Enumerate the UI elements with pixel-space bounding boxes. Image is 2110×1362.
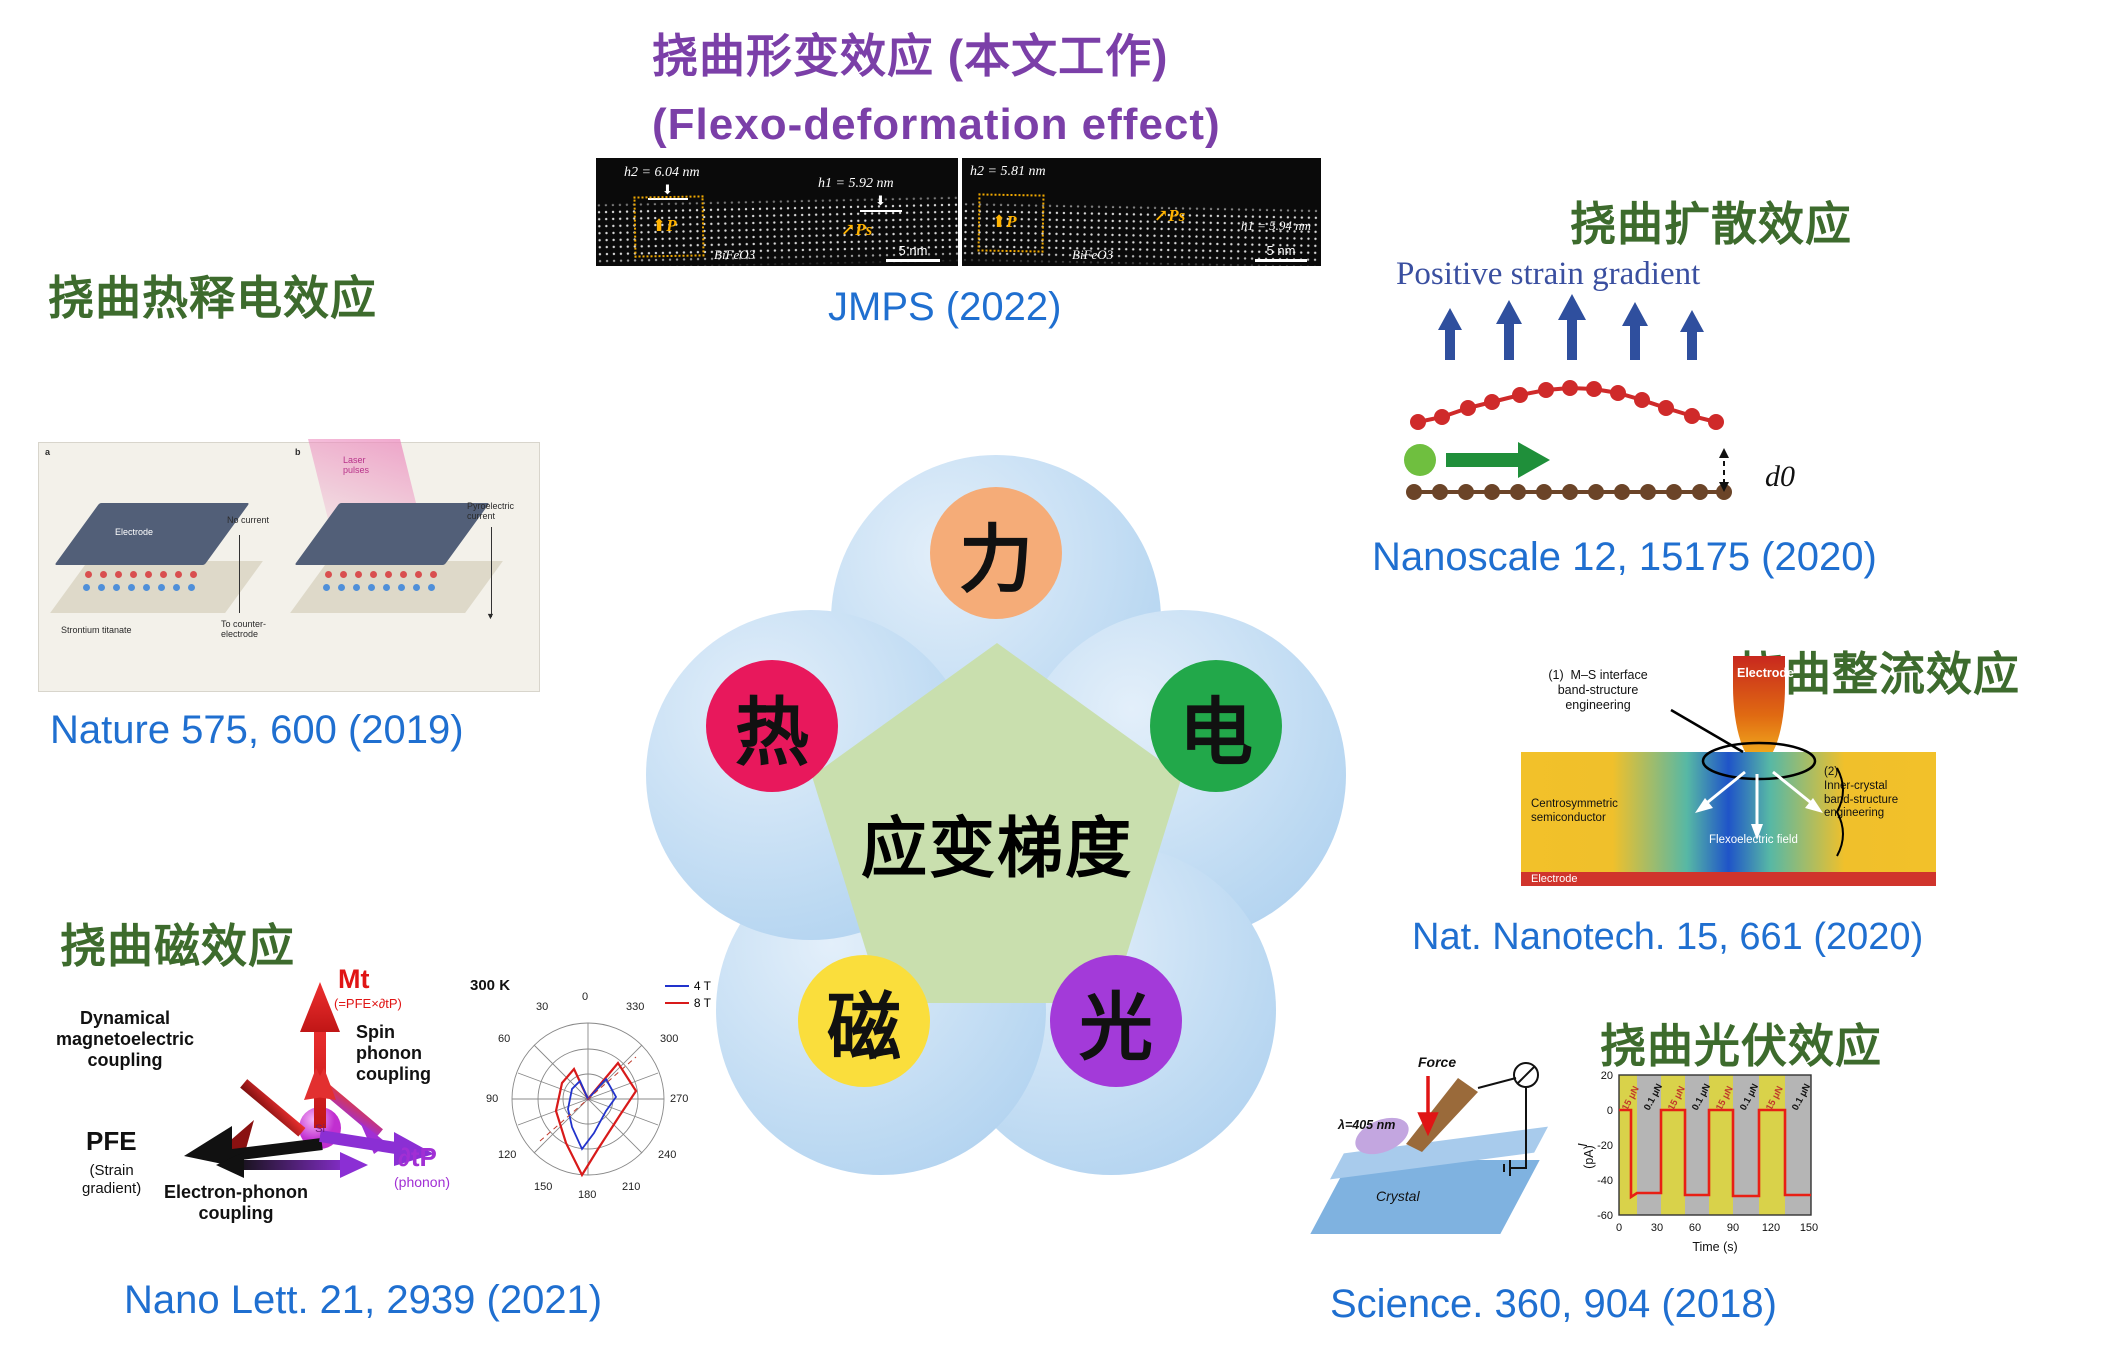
pyro-letter-b: b	[295, 447, 301, 457]
pyro-electrode-b	[294, 503, 489, 565]
pyro-panel-a: a Electrode No current To counter- elect…	[39, 443, 289, 691]
svg-text:-40: -40	[1597, 1175, 1613, 1187]
svg-text:0: 0	[1616, 1222, 1622, 1234]
ref-nanoscale: Nanoscale 12, 15175 (2020)	[1372, 535, 1877, 580]
spin-phonon-label: Spin phonon coupling	[356, 1022, 431, 1086]
upper-atom-chain	[1410, 380, 1724, 430]
haadf-arrow-down-left: ⬇	[662, 183, 673, 196]
haadf-h2-label: h2 = 6.04 nm	[624, 165, 700, 181]
haadf-h1-label-right: h1 = 5.94 nm	[1241, 218, 1311, 234]
pyro-wire-b	[491, 527, 492, 617]
node-electric-label: 电	[1179, 673, 1253, 780]
haadf-scalebar-right: 5 nm	[1255, 243, 1307, 262]
haadf-h1-label: h1 = 5.92 nm	[818, 176, 894, 192]
central-flower-diagram: 应变梯度 力 电 光 磁 热	[616, 455, 1376, 1215]
pv-chart-svg: 20 0 -20 -40 -60 0 30 60 90 120 150 Time…	[1575, 1065, 1830, 1265]
pyroelectric-figure: a Electrode No current To counter- elect…	[38, 442, 540, 692]
ref-jmps: JMPS (2022)	[828, 285, 1061, 330]
electron-phonon-label: Electron-phonon coupling	[164, 1182, 308, 1224]
polar-curve-4t	[568, 1079, 616, 1149]
svg-text:-20: -20	[1597, 1140, 1613, 1152]
electron-phonon-arrow	[216, 1152, 368, 1178]
callout-1-leader	[1671, 710, 1743, 752]
node-optical-label: 光	[1079, 968, 1153, 1075]
laser-pulses-label: Laser pulses	[343, 455, 369, 476]
dtp-sub-label: (phonon)	[394, 1174, 450, 1191]
polar-tick-90: 90	[486, 1093, 498, 1105]
svg-text:120: 120	[1762, 1222, 1780, 1234]
pyro-panel-b: b Laser pulses Pyroelectric current ▼	[289, 443, 539, 691]
diffusion-figure: Positive strain gradient	[1380, 262, 1810, 452]
haadf-polarization-Ps: ↗Ps	[841, 220, 872, 240]
pyro-charge-row-b1	[325, 571, 437, 578]
pyro-wire-a	[239, 535, 240, 613]
dtp-label: ∂tP	[398, 1142, 437, 1173]
force-arrow	[1420, 1076, 1436, 1132]
haadf-material-label-left: BiFeO3	[714, 247, 755, 263]
flexo-pyroelectric-title: 挠曲热释电效应	[48, 262, 377, 328]
haadf-polarization-Ps-right: ↗Ps	[1154, 206, 1185, 226]
ref-natnano: Nat. Nanotech. 15, 661 (2020)	[1412, 916, 1923, 959]
pyro-no-current-label: No current	[227, 515, 269, 525]
field-arrows	[1695, 772, 1823, 840]
polar-tick-0: 0	[582, 991, 588, 1003]
diffusion-svg	[1380, 262, 1810, 452]
strain-arrows	[1438, 294, 1704, 360]
d0-label: d0	[1765, 460, 1795, 494]
haadf-pane-left: h2 = 6.04 nm h1 = 5.92 nm ⬇ ⬇ ⬆P ↗Ps BiF…	[596, 158, 958, 266]
haadf-polarization-P: ⬆P	[652, 216, 677, 236]
ref-nanolett: Nano Lett. 21, 2939 (2021)	[124, 1278, 602, 1323]
node-mechanical-label: 力	[959, 500, 1033, 607]
node-thermal[interactable]: 热	[706, 660, 838, 792]
pyro-charge-row-a2	[83, 584, 195, 591]
haadf-polarization-P-right: ⬆P	[992, 212, 1017, 232]
pentagon-label: 应变梯度	[861, 795, 1133, 891]
flexo-deformation-title-en: (Flexo-deformation effect)	[652, 100, 1221, 150]
rectification-overlay	[1521, 648, 1936, 898]
pyro-letter-a: a	[45, 447, 50, 457]
svg-text:150: 150	[1800, 1222, 1818, 1234]
pyroelectric-current-label: Pyroelectric current	[467, 501, 539, 522]
haadf-bar-right	[860, 210, 902, 212]
diffusion-lower-svg	[1380, 430, 1820, 540]
svg-text:20: 20	[1601, 1070, 1613, 1082]
polar-tick-60: 60	[498, 1033, 510, 1045]
pyro-charge-row-b2	[323, 584, 435, 591]
node-magnetic-label: 磁	[827, 968, 901, 1075]
rectification-figure: (1) M–S interface band-structure enginee…	[1521, 648, 1936, 898]
brace-2	[1837, 768, 1843, 856]
mt-label: Mt	[338, 964, 369, 996]
svg-text:90: 90	[1727, 1222, 1739, 1234]
pyro-substrate-label: Strontium titanate	[61, 625, 132, 635]
pv-chart-ylabel2: (pA)	[1582, 1145, 1596, 1169]
haadf-h2-label-right: h2 = 5.81 nm	[970, 164, 1046, 180]
polar-tick-150: 150	[534, 1181, 552, 1193]
haadf-image-group: h2 = 6.04 nm h1 = 5.92 nm ⬇ ⬇ ⬆P ↗Ps BiF…	[596, 158, 1321, 266]
svg-text:-60: -60	[1597, 1210, 1613, 1222]
node-optical[interactable]: 光	[1050, 955, 1182, 1087]
pyro-charge-row-a1	[85, 571, 197, 578]
pv-chart-xlabel: Time (s)	[1692, 1240, 1737, 1254]
haadf-material-label-right: BiFeO3	[1072, 247, 1113, 263]
magnetic-figure: Si Mt (=PFE×∂tP) Dynamical magnetoelectr…	[68, 960, 468, 1215]
haadf-arrow-down-right: ⬇	[875, 194, 886, 207]
mt-sub-label: (=PFE×∂tP)	[334, 996, 402, 1011]
pfe-label: PFE	[86, 1126, 137, 1157]
dynamical-me-label: Dynamical magnetoelectric coupling	[56, 1008, 194, 1072]
pv-chart-xticks: 0 30 60 90 120 150	[1616, 1222, 1818, 1234]
polar-tick-30: 30	[536, 1001, 548, 1013]
pfe-sub-label: (Strain gradient)	[82, 1162, 141, 1197]
svg-text:0: 0	[1607, 1105, 1613, 1117]
pyro-electrode-label-a: Electrode	[115, 527, 153, 537]
node-mechanical[interactable]: 力	[930, 487, 1062, 619]
ref-nature: Nature 575, 600 (2019)	[50, 708, 464, 753]
flexo-deformation-title-cn: 挠曲形变效应 (本文工作)	[652, 20, 1168, 86]
node-electric[interactable]: 电	[1150, 660, 1282, 792]
svg-text:60: 60	[1689, 1222, 1701, 1234]
haadf-pane-right: ⬆P ↗Ps h2 = 5.81 nm h1 = 5.94 nm BiFeO3 …	[962, 158, 1321, 266]
cantilever-beam	[1406, 1078, 1478, 1152]
pv-chart-yticks: 20 0 -20 -40 -60	[1597, 1070, 1613, 1222]
force-label: Force	[1418, 1054, 1456, 1070]
svg-text:30: 30	[1651, 1222, 1663, 1234]
polar-temperature-label: 300 K	[470, 977, 510, 994]
circuit-wires	[1478, 1063, 1538, 1176]
polar-tick-180: 180	[578, 1189, 596, 1201]
pyro-wire-arrow-b: ▼	[486, 611, 495, 621]
si-atom-label: Si	[315, 1123, 325, 1135]
pyro-counter-label: To counter- electrode	[221, 619, 289, 640]
drift-arrow	[1446, 442, 1550, 478]
photovoltaic-chart: 20 0 -20 -40 -60 0 30 60 90 120 150 Time…	[1575, 1065, 1830, 1265]
diffusing-particle	[1404, 444, 1436, 476]
node-thermal-label: 热	[735, 673, 809, 780]
ref-science: Science. 360, 904 (2018)	[1330, 1282, 1777, 1327]
haadf-scalebar-left: 5 nm	[886, 243, 940, 262]
contact-ellipse	[1703, 743, 1815, 779]
node-magnetic[interactable]: 磁	[798, 955, 930, 1087]
polar-tick-120: 120	[498, 1149, 516, 1161]
flexo-diffusion-title: 挠曲扩散效应	[1570, 188, 1852, 254]
